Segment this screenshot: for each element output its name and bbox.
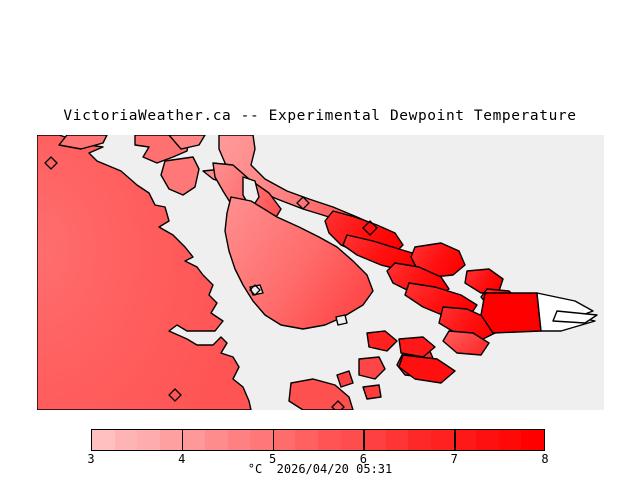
colorbar-segment bbox=[341, 430, 364, 450]
colorbar-segment bbox=[386, 430, 409, 450]
colorbar-caption: °C 2026/04/20 05:31 bbox=[0, 462, 640, 476]
colorbar-segment bbox=[454, 430, 477, 450]
colorbar-segment bbox=[431, 430, 454, 450]
colorbar-segment bbox=[521, 430, 544, 450]
water-region-south-d bbox=[363, 385, 381, 399]
colorbar-segment bbox=[273, 430, 296, 450]
colorbar-segment bbox=[318, 430, 341, 450]
map-canvas[interactable] bbox=[37, 135, 604, 410]
colorbar-tick bbox=[182, 429, 184, 451]
colorbar-gradient bbox=[91, 429, 545, 451]
colorbar-tick bbox=[454, 429, 456, 451]
colorbar-segment bbox=[182, 430, 205, 450]
colorbar-segment bbox=[205, 430, 228, 450]
colorbar-segment bbox=[92, 430, 115, 450]
colorbar-segment bbox=[250, 430, 273, 450]
page-title: VictoriaWeather.ca -- Experimental Dewpo… bbox=[0, 108, 640, 124]
colorbar-segment bbox=[476, 430, 499, 450]
colorbar-segment bbox=[137, 430, 160, 450]
map-svg bbox=[37, 135, 604, 410]
colorbar-tick bbox=[363, 429, 365, 451]
colorbar-segment bbox=[160, 430, 183, 450]
water-region-central-dot2 bbox=[336, 315, 347, 325]
colorbar-segment bbox=[363, 430, 386, 450]
weather-map-page: VictoriaWeather.ca -- Experimental Dewpo… bbox=[0, 0, 640, 480]
colorbar-segment bbox=[295, 430, 318, 450]
water-region-far-east-max bbox=[481, 293, 541, 333]
colorbar bbox=[91, 429, 545, 451]
colorbar-segment bbox=[408, 430, 431, 450]
colorbar-segment bbox=[499, 430, 522, 450]
colorbar-segment bbox=[228, 430, 251, 450]
colorbar-segment bbox=[115, 430, 138, 450]
colorbar-tick bbox=[273, 429, 275, 451]
